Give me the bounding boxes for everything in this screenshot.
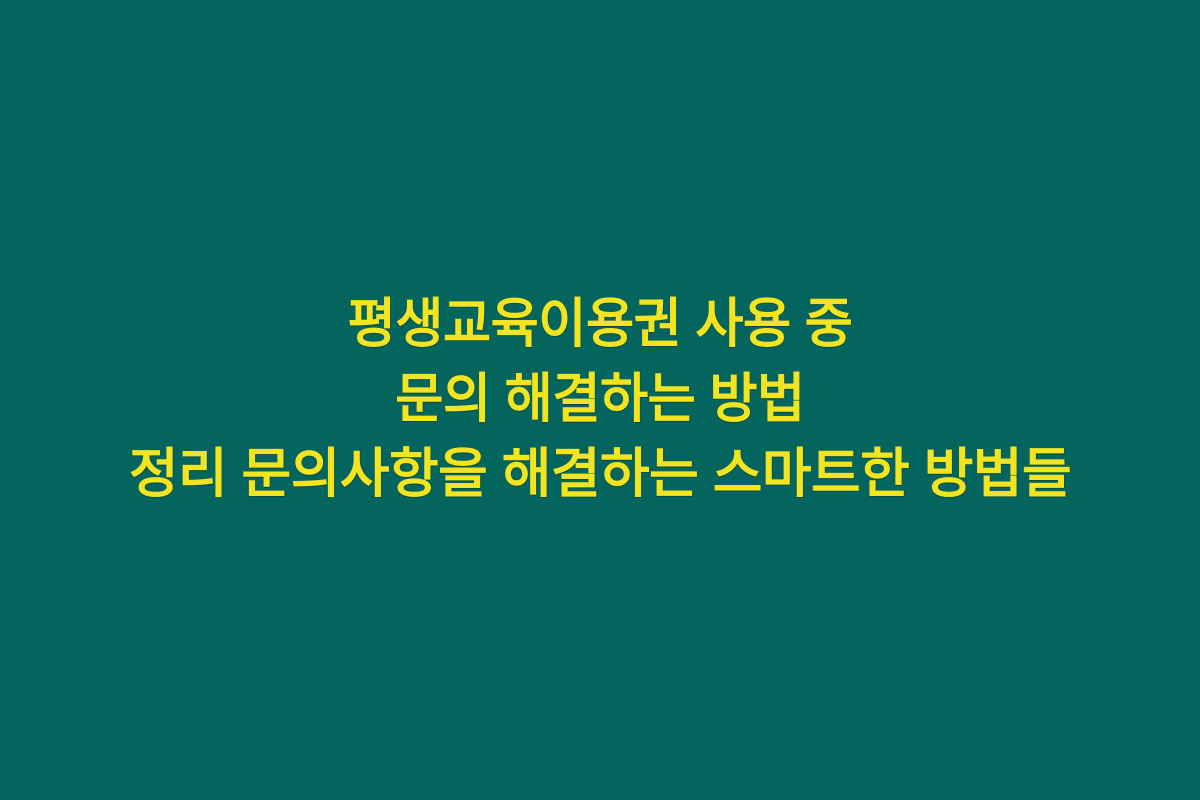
- headline-line-1: 평생교육이용권 사용 중: [37, 287, 1162, 362]
- headline-block: 평생교육이용권 사용 중 문의 해결하는 방법 정리 문의사항을 해결하는 스마…: [0, 287, 1200, 512]
- headline-line-2: 문의 해결하는 방법: [37, 362, 1162, 437]
- thumbnail-canvas: 평생교육이용권 사용 중 문의 해결하는 방법 정리 문의사항을 해결하는 스마…: [0, 0, 1200, 800]
- headline-line-3-text: 정리 문의사항을 해결하는 스마트한 방법들: [129, 437, 1071, 512]
- headline-line-3: 정리 문의사항을 해결하는 스마트한 방법들: [20, 437, 1180, 512]
